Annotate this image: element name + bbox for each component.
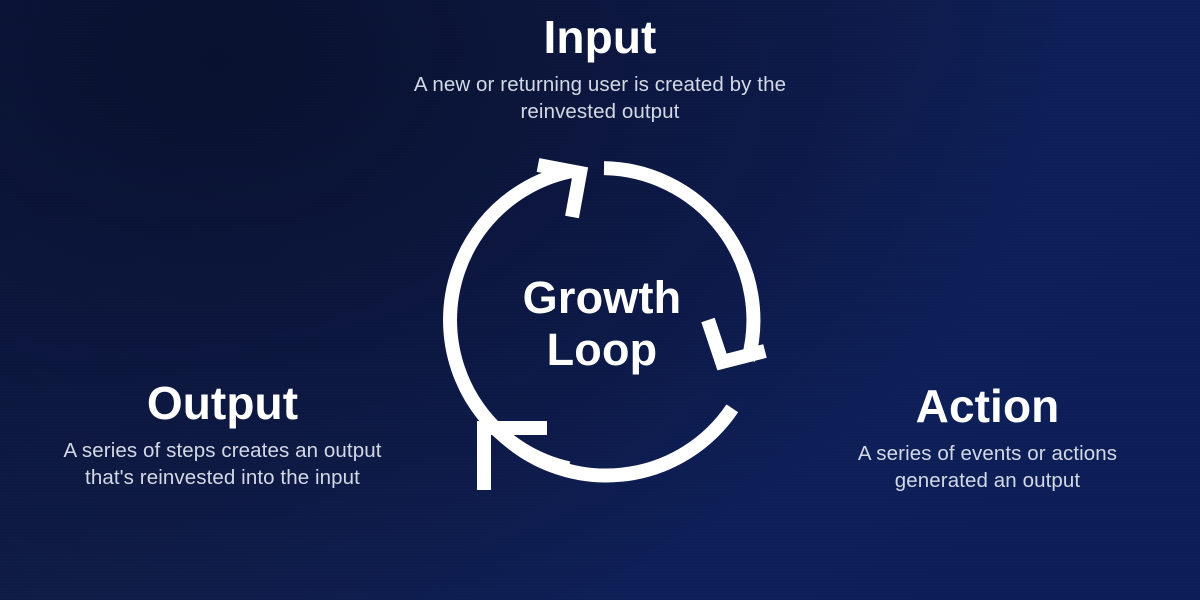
node-input-description-line-1: A new or returning user is created by th…	[300, 71, 900, 98]
node-action-title: Action	[775, 383, 1200, 431]
arrowhead-output-to-input-icon	[538, 165, 580, 217]
node-output-title: Output	[10, 380, 435, 428]
node-output-description: A series of steps creates an output that…	[10, 437, 435, 492]
node-input-description: A new or returning user is created by th…	[300, 71, 900, 126]
node-input-description-line-2: reinvested output	[300, 98, 900, 125]
node-action-description-line-1: A series of events or actions	[775, 440, 1200, 467]
growth-loop-label-line-2: Loop	[452, 324, 752, 376]
node-output-description-line-2: that's reinvested into the input	[10, 464, 435, 491]
arc-action-to-output	[500, 408, 732, 475]
node-output: Output A series of steps creates an outp…	[10, 380, 435, 491]
node-action-description: A series of events or actions generated …	[775, 440, 1200, 495]
node-action: Action A series of events or actions gen…	[775, 383, 1200, 494]
node-action-description-line-2: generated an output	[775, 467, 1200, 494]
node-output-description-line-1: A series of steps creates an output	[10, 437, 435, 464]
node-input-title: Input	[300, 14, 900, 62]
growth-loop-label-line-1: Growth	[452, 272, 752, 324]
diagram-canvas: Input A new or returning user is created…	[0, 0, 1200, 600]
node-input: Input A new or returning user is created…	[300, 14, 900, 125]
growth-loop-label: Growth Loop	[452, 272, 752, 376]
